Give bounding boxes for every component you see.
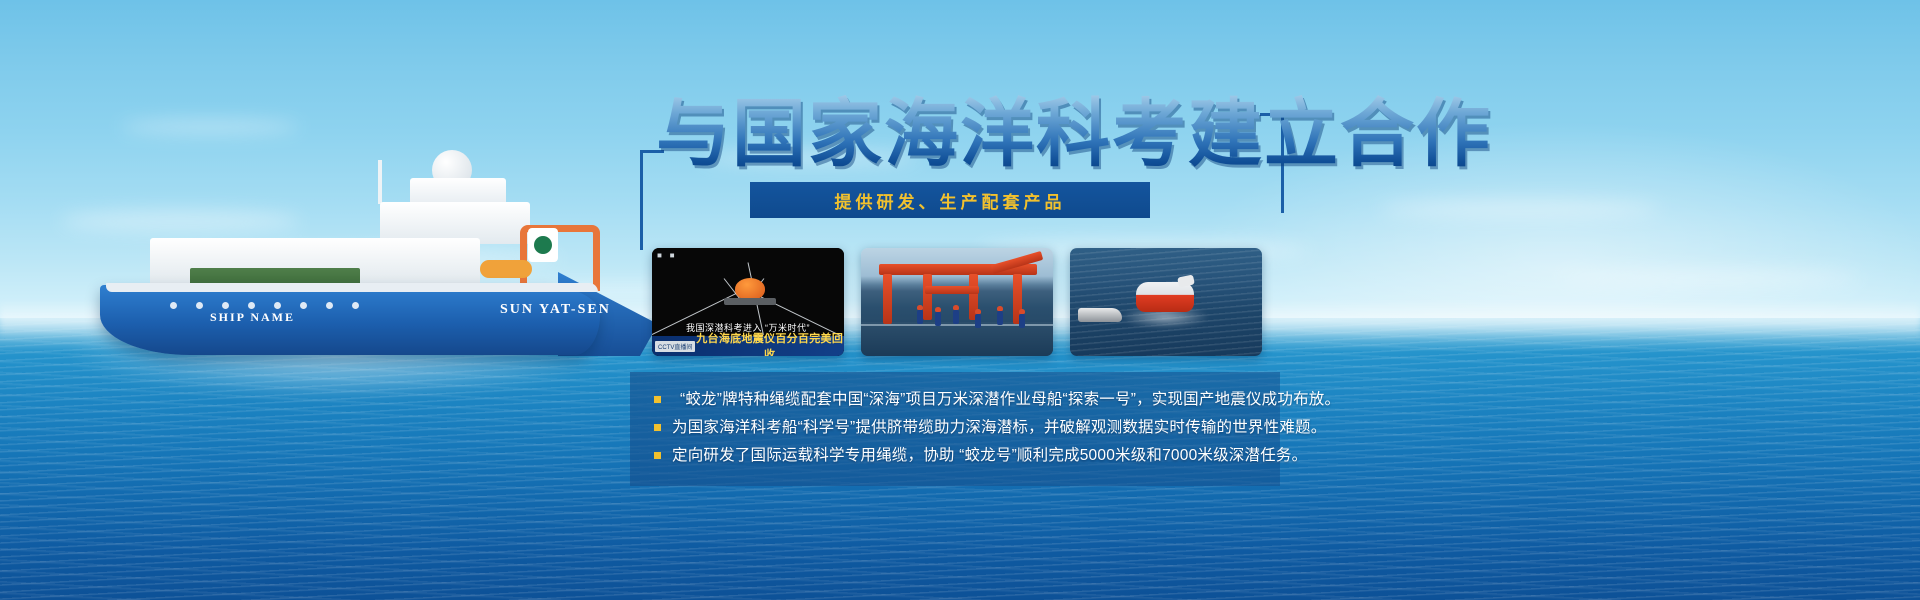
bullet-marker-icon [654,424,661,431]
subtitle-badge-label: 提供研发、生产配套产品 [835,188,1066,213]
list-item: 为国家海洋科考船“科学号”提供脐带缆助力深海潜标，并破解观测数据实时传输的世界性… [630,414,1280,442]
pod-frame [724,298,776,305]
submersible-fin [1177,274,1195,287]
crew-member [975,314,981,328]
submersible-vehicle [1136,282,1194,312]
crew-member [953,310,959,324]
thumbnail-caption-bottom: 九台海底地震仪百分百完美回收 [695,330,844,356]
ship-hull-stripe [106,283,598,292]
ship-emblem [528,228,558,262]
ship-hull [100,285,600,355]
list-item: 定向研发了国际运载科学专用绳缆，协助 “蛟龙号”顺利完成5000米级和7000米… [630,442,1280,470]
list-item: “蛟龙”牌特种绳缆配套中国“深海”项目万米深潜作业母船“探索一号”，实现国产地震… [630,386,1280,414]
thumbnail-caption-bar: CCTV直播间 九台海底地震仪百分百完美回收 [652,336,844,356]
ship-name-primary: SUN YAT-SEN [500,302,611,318]
ship-name-secondary: SHIP NAME [210,310,295,325]
content-column: 与国家海洋科考建立合作 提供研发、生产配套产品 ◼ ◼ 我国深潜科考进入 “万米… [640,0,1920,600]
thumbnail-deep-sea-news[interactable]: ◼ ◼ 我国深潜科考进入 “万米时代” CCTV直播间 九台海底地震仪百分百完美… [652,248,844,356]
seismometer-pod [735,278,765,300]
ship-lifeboat [480,260,532,278]
subtitle-badge: 提供研发、生产配套产品 [750,182,1150,218]
crew-member [935,312,941,326]
ship-porthole-row [170,302,530,310]
list-item-text: 为国家海洋科考船“科学号”提供脐带缆助力深海潜标，并破解观测数据实时传输的世界性… [672,416,1326,440]
thumbnail-submersible[interactable] [1070,248,1262,356]
list-item-text: “蛟龙”牌特种绳缆配套中国“深海”项目万米深潜作业母船“探索一号”，实现国产地震… [672,388,1340,412]
thumbnail-caption-tag: CCTV直播间 [655,341,695,352]
bullet-marker-icon [654,452,661,459]
hero-banner: SUN YAT-SEN SHIP NAME 与国家海洋科考建立合作 提供研发、生… [0,0,1920,600]
crew-member [917,310,923,324]
ship-mast [378,160,382,204]
support-boat [1078,308,1122,322]
crew-member [1019,314,1025,328]
thumbnail-gallery: ◼ ◼ 我国深潜科考进入 “万米时代” CCTV直播间 九台海底地震仪百分百完美… [652,248,1282,356]
thumbnail-deck-crane[interactable] [861,248,1053,356]
broadcaster-watermark: ◼ ◼ [657,252,678,259]
list-item-text: 定向研发了国际运载科学专用绳缆，协助 “蛟龙号”顺利完成5000米级和7000米… [672,444,1307,468]
crew-member [997,311,1003,325]
bullet-marker-icon [654,396,661,403]
page-title: 与国家海洋科考建立合作 [656,95,1492,175]
highlight-list: “蛟龙”牌特种绳缆配套中国“深海”项目万米深潜作业母船“探索一号”，实现国产地震… [630,372,1280,486]
research-vessel-illustration: SUN YAT-SEN SHIP NAME [80,150,640,400]
